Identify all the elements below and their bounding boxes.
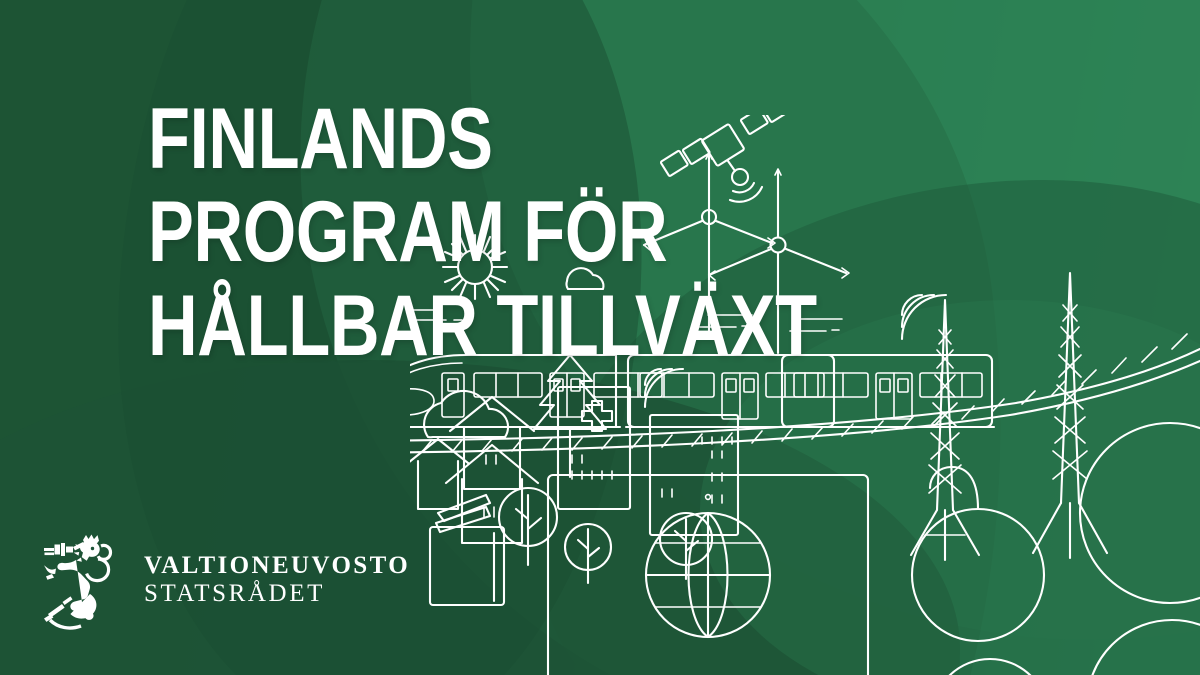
poster-canvas: FINLANDS PROGRAM FÖR HÅLLBAR TILLVÄXT	[0, 0, 1200, 675]
house-icon	[450, 397, 534, 489]
valtioneuvosto-logo: VALTIONEUVOSTO STATSRÅDET	[40, 530, 410, 630]
laptop-globe-icon	[518, 475, 898, 675]
circle-icon	[1087, 620, 1200, 675]
title-line-3: HÅLLBAR TILLVÄXT	[148, 285, 817, 368]
logo-wordmark: VALTIONEUVOSTO STATSRÅDET	[144, 552, 410, 608]
logo-text-finnish: VALTIONEUVOSTO	[144, 552, 410, 580]
poster-title: FINLANDS PROGRAM FÖR HÅLLBAR TILLVÄXT	[148, 98, 984, 378]
house-icon	[446, 445, 538, 543]
title-line-1: FINLANDS	[148, 98, 817, 181]
circle-icon	[932, 659, 1048, 675]
house-icon	[410, 439, 468, 509]
tree-icon	[660, 513, 712, 579]
finnish-lion-coat-of-arms-icon	[40, 530, 122, 630]
book-icon	[430, 495, 504, 605]
circle-icon	[1080, 423, 1200, 603]
logo-text-swedish: STATSRÅDET	[144, 580, 410, 608]
cloud-icon	[424, 391, 508, 437]
radio-tower-icon	[1033, 273, 1107, 558]
title-line-2: PROGRAM FÖR	[148, 191, 817, 274]
tree-icon	[565, 524, 611, 583]
